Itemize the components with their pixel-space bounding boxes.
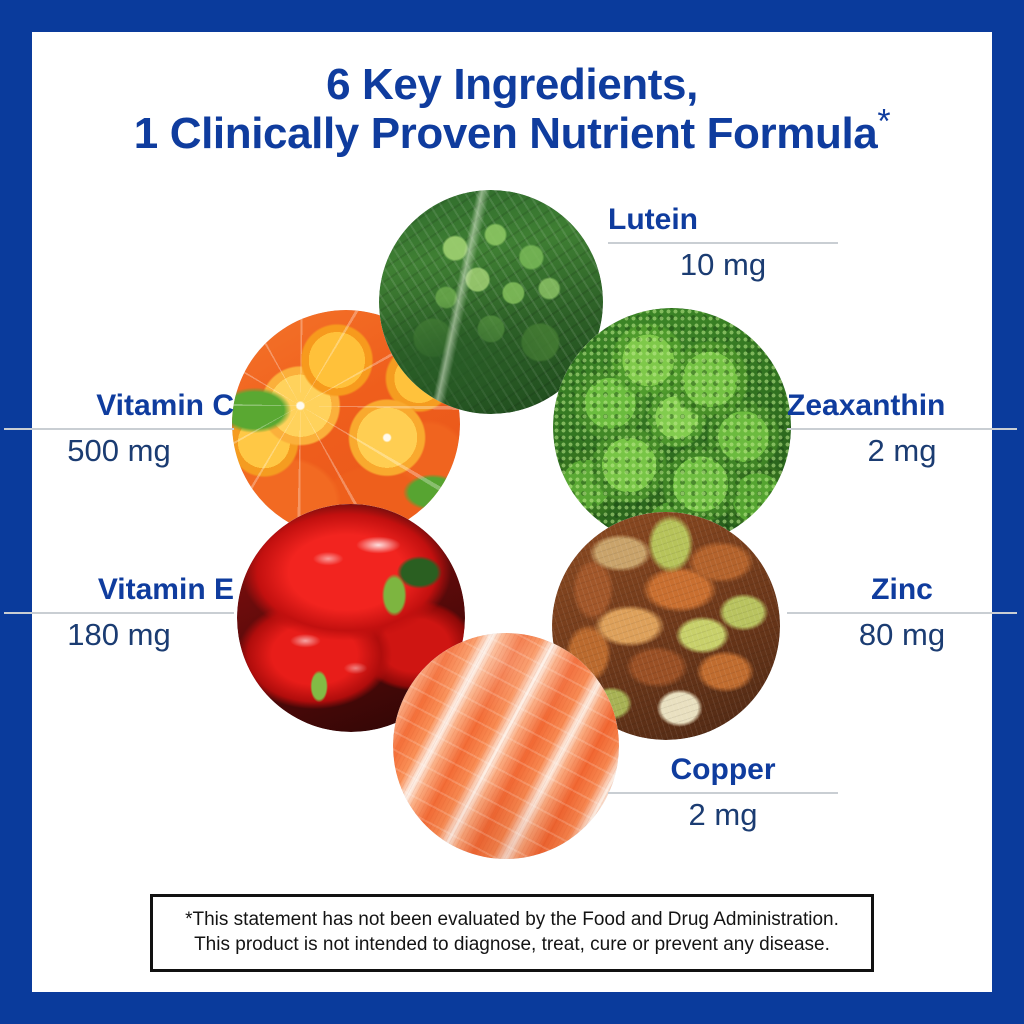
label-copper-name: Copper <box>608 754 838 786</box>
infographic-root: 6 Key Ingredients, 1 Clinically Proven N… <box>0 0 1024 1024</box>
disclaimer-line-2: This product is not intended to diagnose… <box>161 932 863 957</box>
label-lutein: Lutein 10 mg <box>608 204 838 281</box>
label-vitamin-c-amount: 500 mg <box>4 435 234 468</box>
label-vitamin-e-amount: 180 mg <box>4 619 234 652</box>
label-vitamin-e-rule <box>4 612 234 614</box>
salmon-photo <box>393 633 619 859</box>
label-lutein-amount: 10 mg <box>608 249 838 282</box>
label-zeaxanthin-amount: 2 mg <box>787 435 1017 468</box>
label-zinc: Zinc 80 mg <box>787 574 1017 651</box>
label-vitamin-c: Vitamin C 500 mg <box>4 390 234 467</box>
ingredient-circle-zeaxanthin <box>553 308 791 546</box>
label-zinc-amount: 80 mg <box>787 619 1017 652</box>
label-zinc-name: Zinc <box>787 574 1017 606</box>
white-card: 6 Key Ingredients, 1 Clinically Proven N… <box>32 32 992 992</box>
label-zeaxanthin: Zeaxanthin 2 mg <box>787 390 1017 467</box>
label-lutein-name: Lutein <box>608 204 838 236</box>
label-copper-amount: 2 mg <box>608 799 838 832</box>
label-vitamin-e: Vitamin E 180 mg <box>4 574 234 651</box>
label-zeaxanthin-rule <box>787 428 1017 430</box>
label-vitamin-c-rule <box>4 428 234 430</box>
broccoli-photo <box>553 308 791 546</box>
ingredient-circle-cluster: Lutein 10 mg Zeaxanthin 2 mg Zinc 80 mg … <box>32 32 992 992</box>
label-vitamin-e-name: Vitamin E <box>4 574 234 606</box>
ingredient-circle-copper <box>393 633 619 859</box>
disclaimer-line-1: *This statement has not been evaluated b… <box>161 907 863 932</box>
label-zinc-rule <box>787 612 1017 614</box>
label-vitamin-c-name: Vitamin C <box>4 390 234 422</box>
label-zeaxanthin-name: Zeaxanthin <box>787 390 1017 422</box>
disclaimer-box: *This statement has not been evaluated b… <box>150 894 874 972</box>
label-copper-rule <box>608 792 838 794</box>
label-lutein-rule <box>608 242 838 244</box>
label-copper: Copper 2 mg <box>608 754 838 831</box>
